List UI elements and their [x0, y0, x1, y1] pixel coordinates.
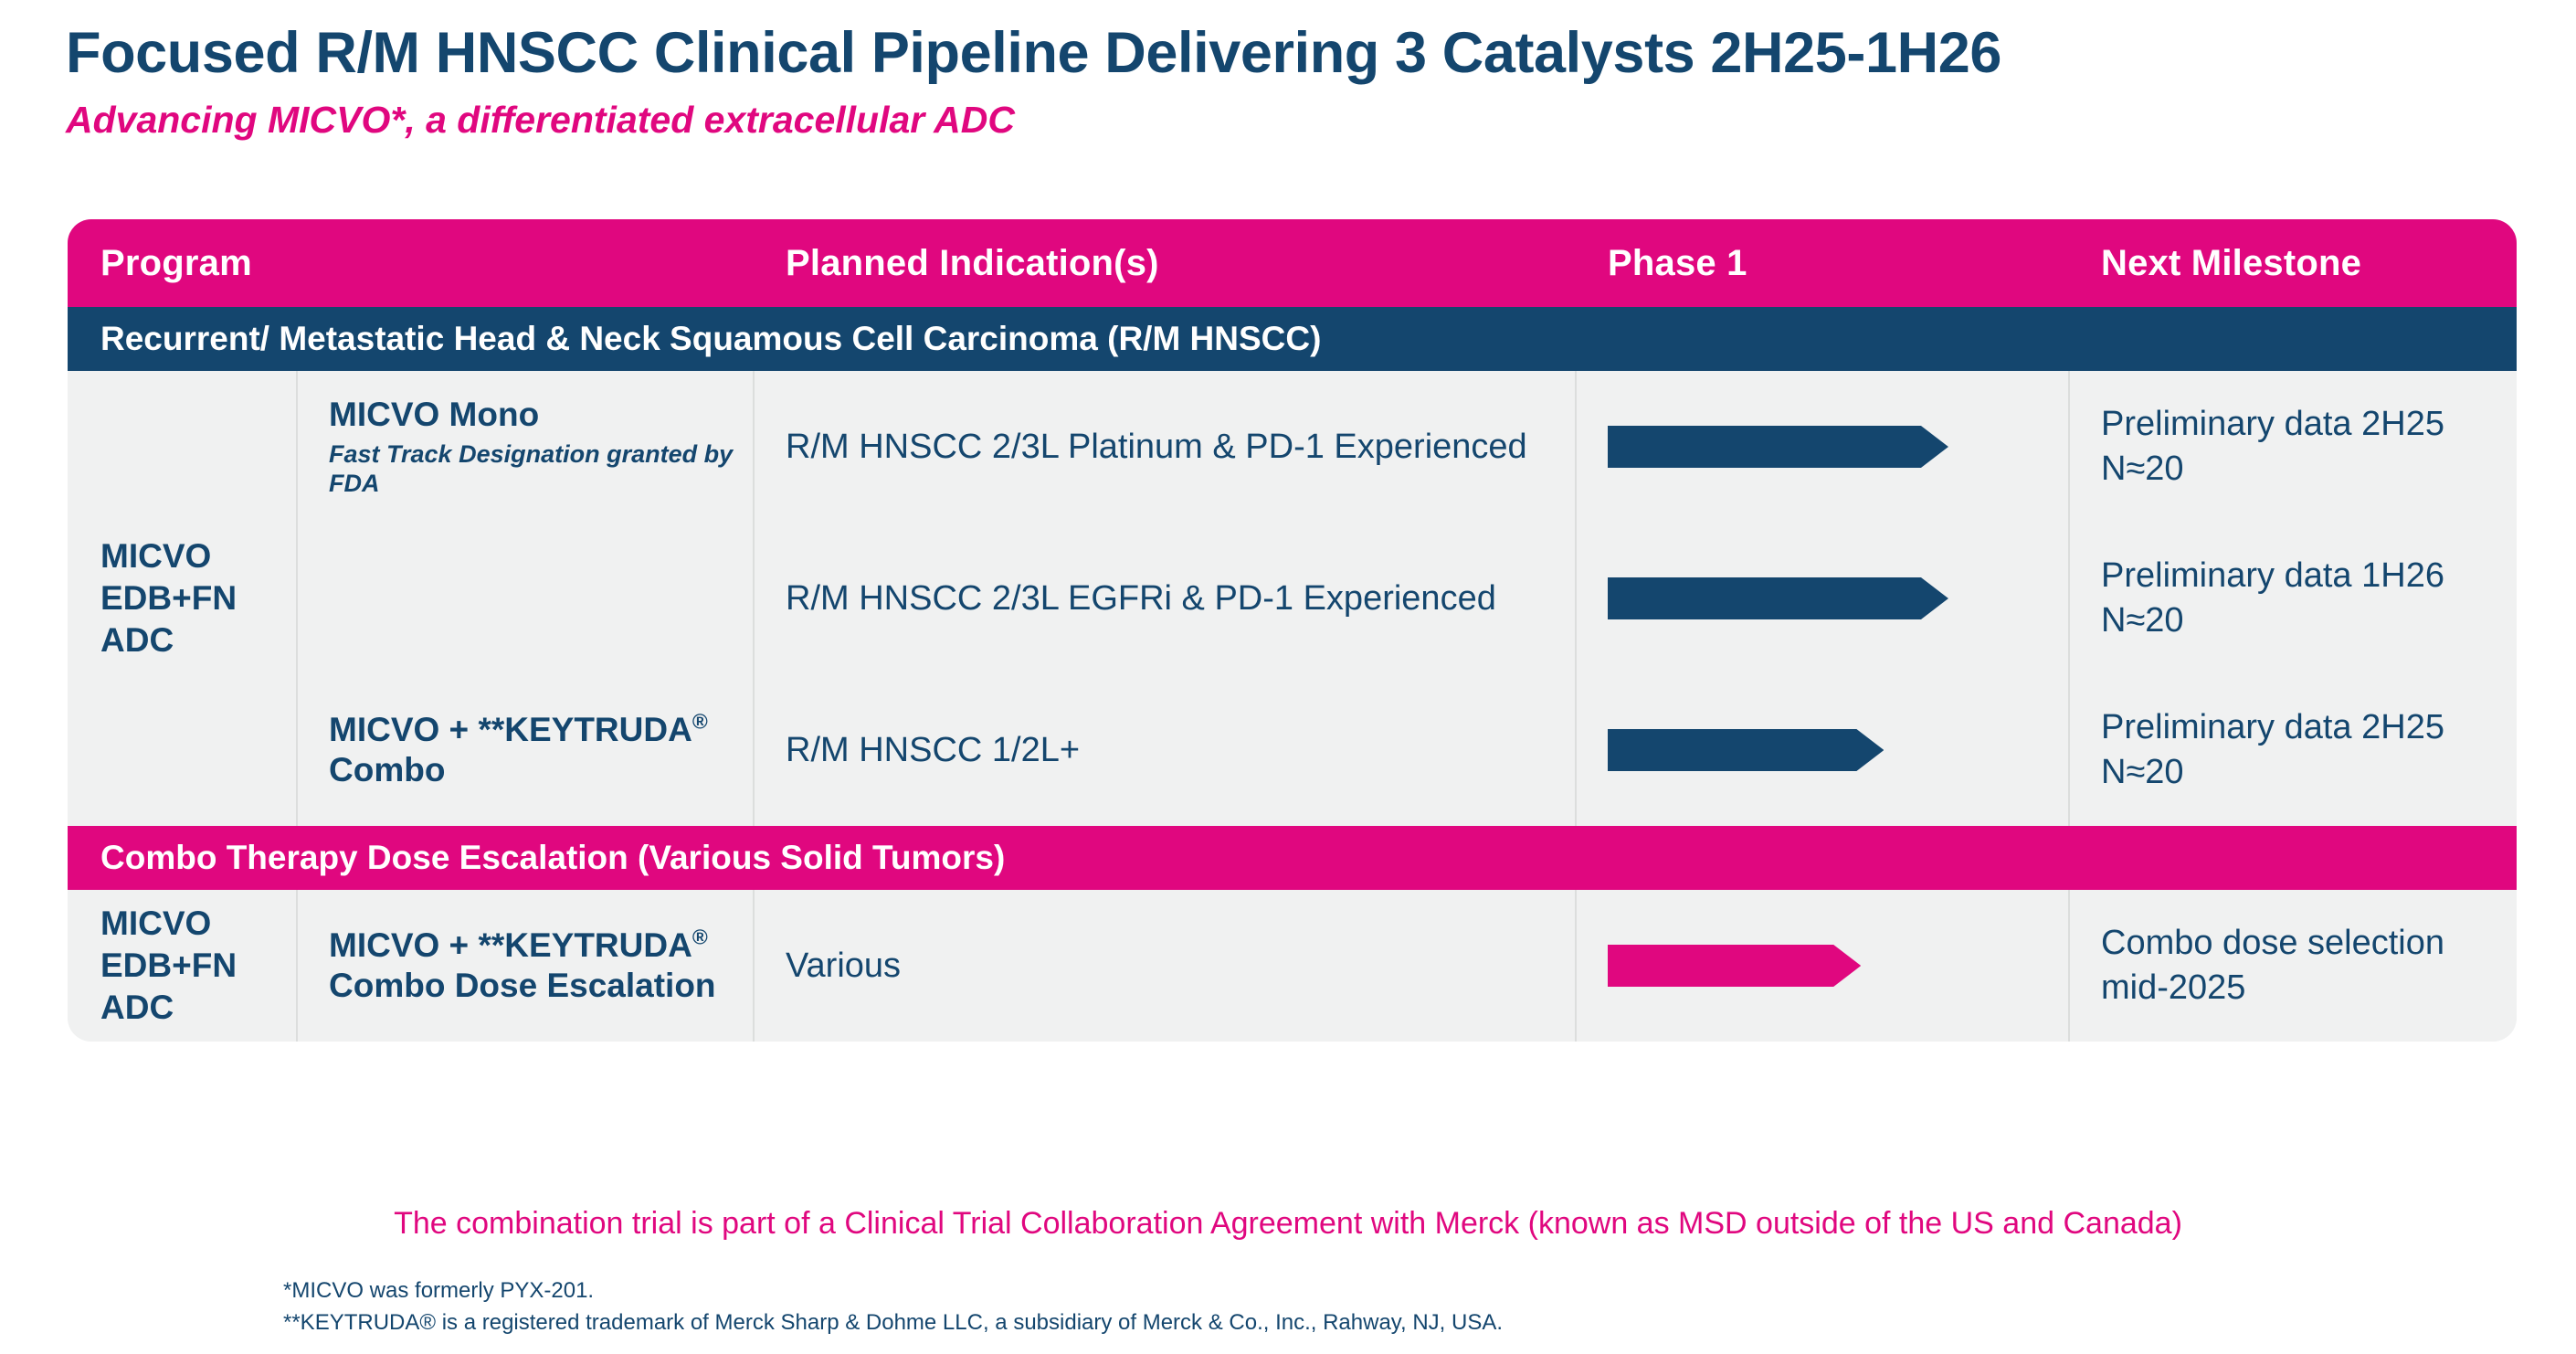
- table-row: R/M HNSCC 2/3L EGFRi & PD-1 Experienced …: [296, 523, 2517, 674]
- collaboration-note: The combination trial is part of a Clini…: [0, 1206, 2576, 1242]
- section-band-hnscc: Recurrent/ Metastatic Head & Neck Squamo…: [68, 307, 2517, 371]
- table-header-row: Program Planned Indication(s) Phase 1 Ne…: [68, 219, 2517, 307]
- milestone-cell: Preliminary data 2H25 N≈20: [2068, 674, 2517, 826]
- agent-cell: [296, 523, 753, 674]
- section-band-label: Recurrent/ Metastatic Head & Neck Squamo…: [100, 320, 1321, 358]
- section-band-combo: Combo Therapy Dose Escalation (Various S…: [68, 826, 2517, 890]
- agent-name-text: MICVO + **KEYTRUDA® Combo: [329, 711, 708, 788]
- section-band-label: Combo Therapy Dose Escalation (Various S…: [100, 839, 1005, 877]
- column-header-program: Program: [68, 243, 296, 284]
- agent-note: Fast Track Designation granted by FDA: [329, 439, 736, 499]
- column-header-milestone: Next Milestone: [2068, 243, 2517, 284]
- indication-cell: R/M HNSCC 2/3L EGFRi & PD-1 Experienced: [753, 523, 1575, 674]
- milestone-cell: Preliminary data 2H25 N≈20: [2068, 371, 2517, 523]
- agent-cell: MICVO + **KEYTRUDA® Combo: [296, 674, 753, 826]
- page-title: Focused R/M HNSCC Clinical Pipeline Deli…: [66, 20, 2001, 86]
- table-row: MICVO Mono Fast Track Designation grante…: [296, 371, 2517, 523]
- agent-name-text: MICVO + **KEYTRUDA® Combo Dose Escalatio…: [329, 926, 716, 1004]
- indication-cell: R/M HNSCC 2/3L Platinum & PD-1 Experienc…: [753, 371, 1575, 523]
- agent-name: MICVO Mono: [329, 395, 736, 435]
- footnotes: *MICVO was formerly PYX-201. **KEYTRUDA®…: [283, 1275, 1503, 1339]
- section-body-combo: MICVO EDB+FN ADC MICVO + **KEYTRUDA® Com…: [68, 890, 2517, 1042]
- table-row: MICVO + **KEYTRUDA® Combo Dose Escalatio…: [296, 890, 2517, 1042]
- phase1-progress-arrow: [1608, 426, 1948, 468]
- column-header-indication: Planned Indication(s): [753, 243, 1575, 284]
- agent-cell: MICVO Mono Fast Track Designation grante…: [296, 371, 753, 523]
- indication-cell: Various: [753, 890, 1575, 1042]
- program-label-combo: MICVO EDB+FN ADC: [68, 890, 296, 1042]
- column-header-phase: Phase 1: [1575, 243, 2068, 284]
- milestone-cell: Combo dose selection mid-2025: [2068, 890, 2517, 1042]
- agent-cell: MICVO + **KEYTRUDA® Combo Dose Escalatio…: [296, 890, 753, 1042]
- phase-cell: [1575, 523, 2068, 674]
- phase-cell: [1575, 371, 2068, 523]
- page-subtitle: Advancing MICVO*, a differentiated extra…: [66, 99, 1015, 142]
- phase1-progress-arrow: [1608, 945, 1861, 987]
- program-label-hnscc: MICVO EDB+FN ADC: [68, 371, 296, 826]
- milestone-cell: Preliminary data 1H26 N≈20: [2068, 523, 2517, 674]
- table-row: MICVO + **KEYTRUDA® Combo R/M HNSCC 1/2L…: [296, 674, 2517, 826]
- footnote-keytruda: **KEYTRUDA® is a registered trademark of…: [283, 1307, 1503, 1339]
- footnote-micvo: *MICVO was formerly PYX-201.: [283, 1275, 1503, 1307]
- section-body-hnscc: MICVO EDB+FN ADC MICVO Mono Fast Track D…: [68, 371, 2517, 826]
- pipeline-table: Program Planned Indication(s) Phase 1 Ne…: [68, 219, 2517, 1042]
- phase-cell: [1575, 890, 2068, 1042]
- phase1-progress-arrow: [1608, 729, 1884, 771]
- agent-name: MICVO + **KEYTRUDA® Combo Dose Escalatio…: [329, 925, 736, 1006]
- phase-cell: [1575, 674, 2068, 826]
- indication-cell: R/M HNSCC 1/2L+: [753, 674, 1575, 826]
- phase1-progress-arrow: [1608, 577, 1948, 619]
- agent-name: MICVO + **KEYTRUDA® Combo: [329, 709, 736, 790]
